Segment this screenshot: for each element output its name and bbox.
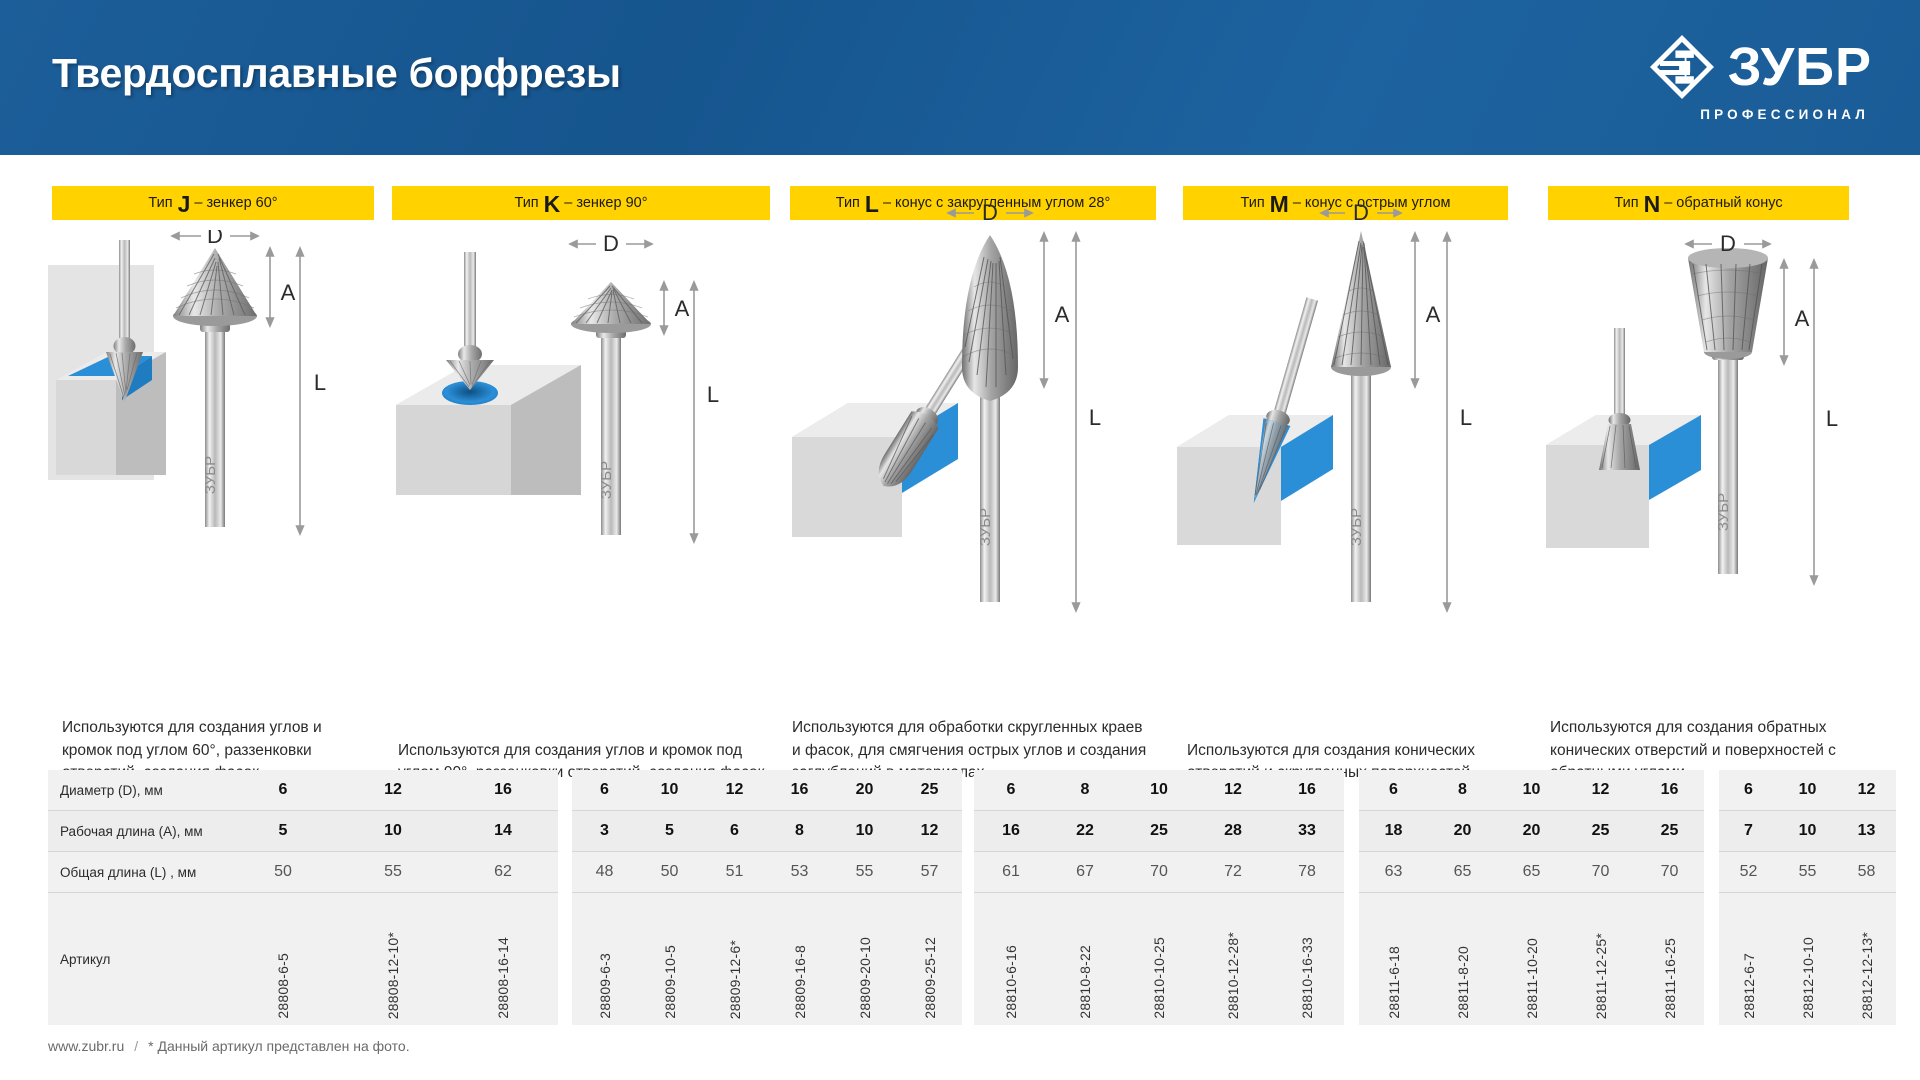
cell-diameter: 12 (1837, 770, 1896, 810)
spec-row-labels: Диаметр (D), мм Рабочая длина (A), мм Об… (48, 770, 228, 1025)
article-code: 28809-16-8 (792, 945, 808, 1019)
footer-note: * Данный артикул представлен на фото. (148, 1038, 409, 1054)
dimension-label-l: L (1826, 406, 1838, 431)
cell-diameter: 10 (637, 770, 702, 810)
spec-table-k: 6 10 12 16 20 25 3 5 6 8 10 12 48 50 51 (572, 770, 962, 1025)
cell-diameter: 16 (448, 770, 558, 810)
type-label-prefix: Тип (148, 195, 172, 211)
table-row-working-length: 7 10 13 (1719, 811, 1896, 851)
article-code: 28808-6-5 (275, 953, 291, 1019)
cell-working-length: 10 (832, 811, 897, 851)
row-label-article: Артикул (48, 893, 228, 1025)
spec-table-n: 6 10 12 7 10 13 52 55 58 28812-6-7 28812… (1719, 770, 1896, 1025)
cell-working-length: 10 (1778, 811, 1837, 851)
type-label-prefix: Тип (514, 195, 538, 211)
table-row-article: 28812-6-7 28812-10-10 28812-12-13* (1719, 893, 1896, 1025)
dimension-a-k (661, 282, 668, 334)
cell-diameter: 10 (1778, 770, 1837, 810)
cell-diameter: 10 (1497, 770, 1566, 810)
cell-total-length: 58 (1837, 852, 1896, 892)
table-row-article: 28808-6-5 28808-12-10* 28808-16-14 (228, 893, 558, 1025)
cell-article: 28808-16-14 (448, 893, 558, 1025)
cell-article: 28812-12-13* (1837, 893, 1896, 1025)
type-label-suffix: – зенкер 90° (564, 195, 647, 211)
cell-working-length: 20 (1497, 811, 1566, 851)
cell-article: 28810-6-16 (974, 893, 1048, 1025)
cell-working-length: 16 (974, 811, 1048, 851)
table-row-article: 28810-6-16 28810-8-22 28810-10-25 28810-… (974, 893, 1344, 1025)
svg-text:ЗУБР: ЗУБР (202, 456, 219, 494)
dimension-label-a: A (281, 280, 296, 305)
article-code: 28809-12-6* (727, 940, 743, 1019)
tool-profile-m: ЗУБР (1331, 231, 1391, 602)
cell-article: 28810-16-33 (1270, 893, 1344, 1025)
cell-working-length: 28 (1196, 811, 1270, 851)
article-code: 28811-10-20 (1524, 938, 1540, 1019)
type-letter-k: K (544, 193, 561, 216)
cell-total-length: 61 (974, 852, 1048, 892)
row-label-working-length: Рабочая длина (A), мм (48, 811, 228, 851)
dimension-label-d: D (1353, 200, 1369, 225)
illustration-type-m: ЗУБР D A (1173, 197, 1518, 667)
dimension-label-d: D (207, 230, 223, 248)
cell-working-length: 18 (1359, 811, 1428, 851)
cell-total-length: 65 (1428, 852, 1497, 892)
table-row-article: 28809-6-3 28809-10-5 28809-12-6* 28809-1… (572, 893, 962, 1025)
dimension-label-a: A (1426, 302, 1441, 327)
cell-working-length: 10 (338, 811, 448, 851)
cell-diameter: 16 (1635, 770, 1704, 810)
footer-website[interactable]: www.zubr.ru (48, 1038, 124, 1054)
article-code: 28808-12-10* (385, 932, 401, 1019)
cell-diameter: 20 (832, 770, 897, 810)
cell-article: 28812-10-10 (1778, 893, 1837, 1025)
article-code: 28809-25-12 (922, 937, 938, 1019)
table-row-diameter: 6 8 10 12 16 (1359, 770, 1704, 810)
article-code: 28810-12-28* (1225, 932, 1241, 1019)
dimension-label-d: D (1720, 231, 1736, 256)
table-row-diameter: 6 12 16 (228, 770, 558, 810)
dimension-label-l: L (1089, 405, 1101, 430)
article-code: 28809-10-5 (662, 945, 678, 1019)
table-row-working-length: 5 10 14 (228, 811, 558, 851)
type-label-n: Тип N – обратный конус (1548, 186, 1849, 220)
brand-logo: ЗУБР ПРОФЕССИОНАЛ (1648, 33, 1872, 122)
dimension-l-j (297, 248, 304, 534)
cell-working-length: 22 (1048, 811, 1122, 851)
article-code: 28808-16-14 (495, 937, 511, 1019)
cell-working-length: 14 (448, 811, 558, 851)
tool-profile-l: ЗУБР (962, 235, 1018, 602)
type-letter-n: N (1644, 193, 1661, 216)
type-letter-j: J (178, 193, 191, 216)
table-row-total-length: 48 50 51 53 55 57 (572, 852, 962, 892)
cell-article: 28811-16-25 (1635, 893, 1704, 1025)
table-row-total-length: 50 55 62 (228, 852, 558, 892)
cell-article: 28811-6-18 (1359, 893, 1428, 1025)
table-row-diameter: 6 8 10 12 16 (974, 770, 1344, 810)
cell-total-length: 70 (1635, 852, 1704, 892)
article-code: 28811-16-25 (1662, 938, 1678, 1019)
cell-article: 28811-10-20 (1497, 893, 1566, 1025)
cell-total-length: 55 (832, 852, 897, 892)
cell-total-length: 72 (1196, 852, 1270, 892)
cell-article: 28809-10-5 (637, 893, 702, 1025)
illustration-type-n: ЗУБР D A (1536, 230, 1861, 670)
cell-working-length: 7 (1719, 811, 1778, 851)
table-row-article: 28811-6-18 28811-8-20 28811-10-20 28811-… (1359, 893, 1704, 1025)
dimension-a-j (267, 248, 274, 326)
article-code: 28810-16-33 (1299, 937, 1315, 1019)
dimension-a-m (1412, 233, 1419, 387)
article-code: 28812-10-10 (1800, 937, 1816, 1019)
cell-working-length: 25 (1635, 811, 1704, 851)
cell-working-length: 13 (1837, 811, 1896, 851)
cell-article: 28810-10-25 (1122, 893, 1196, 1025)
cell-working-length: 5 (637, 811, 702, 851)
cell-total-length: 70 (1122, 852, 1196, 892)
article-code: 28810-10-25 (1151, 937, 1167, 1019)
dimension-label-d: D (982, 200, 998, 225)
dimension-label-a: A (1795, 306, 1810, 331)
cell-diameter: 12 (702, 770, 767, 810)
dimension-l-m (1444, 233, 1451, 611)
cell-diameter: 10 (1122, 770, 1196, 810)
article-code: 28812-12-13* (1859, 932, 1875, 1019)
brand-tagline: ПРОФЕССИОНАЛ (1700, 107, 1869, 122)
cell-diameter: 16 (1270, 770, 1344, 810)
article-code: 28810-8-22 (1077, 945, 1093, 1019)
cell-working-length: 25 (1566, 811, 1635, 851)
cell-working-length: 12 (897, 811, 962, 851)
svg-text:ЗУБР: ЗУБР (598, 461, 615, 499)
page-title: Твердосплавные борфрезы (52, 50, 621, 97)
cell-diameter: 6 (572, 770, 637, 810)
cell-working-length: 5 (228, 811, 338, 851)
spec-table-l: 6 8 10 12 16 16 22 25 28 33 61 67 70 72 … (974, 770, 1344, 1025)
page-header-banner: Твердосплавные борфрезы ЗУБР ПРОФЕССИОНА… (0, 0, 1920, 155)
table-row-diameter: 6 10 12 16 20 25 (572, 770, 962, 810)
article-code: 28810-6-16 (1003, 945, 1019, 1019)
spec-table-m: 6 8 10 12 16 18 20 20 25 25 63 65 65 70 … (1359, 770, 1704, 1025)
type-label-suffix: – обратный конус (1664, 195, 1782, 211)
cell-total-length: 52 (1719, 852, 1778, 892)
article-code: 28811-12-25* (1593, 933, 1609, 1019)
cell-diameter: 6 (974, 770, 1048, 810)
cell-diameter: 6 (228, 770, 338, 810)
type-label-j: Тип J – зенкер 60° (52, 186, 374, 220)
cell-article: 28809-20-10 (832, 893, 897, 1025)
table-row-total-length: 52 55 58 (1719, 852, 1896, 892)
illustration-type-j: ЗУБР D A (48, 230, 378, 625)
footer-separator: / (134, 1038, 138, 1054)
illustration-type-k: ЗУБР D A (386, 230, 776, 625)
cell-article: 28808-6-5 (228, 893, 338, 1025)
cell-article: 28809-12-6* (702, 893, 767, 1025)
table-row-total-length: 63 65 65 70 70 (1359, 852, 1704, 892)
article-code: 28812-6-7 (1741, 953, 1757, 1019)
tool-profile-k: ЗУБР (571, 282, 651, 535)
cell-diameter: 12 (1566, 770, 1635, 810)
dimension-label-d: D (603, 231, 619, 256)
cell-total-length: 53 (767, 852, 832, 892)
cell-total-length: 65 (1497, 852, 1566, 892)
cell-total-length: 78 (1270, 852, 1344, 892)
table-row-working-length: 3 5 6 8 10 12 (572, 811, 962, 851)
cell-article: 28811-12-25* (1566, 893, 1635, 1025)
cell-total-length: 62 (448, 852, 558, 892)
cell-article: 28810-8-22 (1048, 893, 1122, 1025)
type-label-suffix: – зенкер 60° (194, 195, 277, 211)
svg-text:ЗУБР: ЗУБР (1715, 493, 1732, 531)
cell-article: 28810-12-28* (1196, 893, 1270, 1025)
cell-working-length: 8 (767, 811, 832, 851)
illustration-type-l: ЗУБР D A (788, 197, 1158, 667)
cell-article: 28808-12-10* (338, 893, 448, 1025)
article-code: 28811-6-18 (1386, 946, 1402, 1019)
cell-diameter: 6 (1359, 770, 1428, 810)
dimension-l-l (1073, 233, 1080, 611)
zubr-arrow-logo-icon (1648, 33, 1716, 101)
type-label-k: Тип K – зенкер 90° (392, 186, 770, 220)
cell-article: 28809-25-12 (897, 893, 962, 1025)
cell-diameter: 12 (1196, 770, 1270, 810)
dimension-l-n (1811, 260, 1818, 584)
cell-diameter: 8 (1428, 770, 1497, 810)
table-row-working-length: 16 22 25 28 33 (974, 811, 1344, 851)
cell-total-length: 70 (1566, 852, 1635, 892)
cell-working-length: 33 (1270, 811, 1344, 851)
product-datasheet-page: Твердосплавные борфрезы ЗУБР ПРОФЕССИОНА… (0, 0, 1920, 1080)
cell-article: 28809-6-3 (572, 893, 637, 1025)
dimension-label-l: L (314, 370, 326, 395)
article-code: 28811-8-20 (1455, 946, 1471, 1019)
cell-total-length: 48 (572, 852, 637, 892)
spec-tables: Диаметр (D), мм Рабочая длина (A), мм Об… (0, 925, 1920, 1025)
article-code: 28809-6-3 (597, 953, 613, 1019)
svg-text:ЗУБР: ЗУБР (1348, 508, 1365, 546)
svg-text:ЗУБР: ЗУБР (977, 508, 994, 546)
dimension-label-l: L (707, 382, 719, 407)
cell-working-length: 20 (1428, 811, 1497, 851)
cell-total-length: 55 (1778, 852, 1837, 892)
cell-total-length: 55 (338, 852, 448, 892)
table-row-diameter: 6 10 12 (1719, 770, 1896, 810)
cell-working-length: 6 (702, 811, 767, 851)
dimension-label-a: A (675, 296, 690, 321)
cell-total-length: 57 (897, 852, 962, 892)
spec-table-j: 6 12 16 5 10 14 50 55 62 28808-6-5 28808… (228, 770, 558, 1025)
cell-total-length: 51 (702, 852, 767, 892)
cell-article: 28809-16-8 (767, 893, 832, 1025)
dimension-label-a: A (1055, 302, 1070, 327)
dimension-label-l: L (1460, 405, 1472, 430)
cell-working-length: 25 (1122, 811, 1196, 851)
cell-diameter: 12 (338, 770, 448, 810)
cell-total-length: 67 (1048, 852, 1122, 892)
dimension-a-n (1781, 260, 1788, 364)
cell-diameter: 25 (897, 770, 962, 810)
cell-article: 28811-8-20 (1428, 893, 1497, 1025)
cell-article: 28812-6-7 (1719, 893, 1778, 1025)
brand-wordmark: ЗУБР (1728, 40, 1872, 94)
cell-total-length: 50 (228, 852, 338, 892)
article-code: 28809-20-10 (857, 937, 873, 1019)
cell-total-length: 63 (1359, 852, 1428, 892)
logo-row: ЗУБР (1648, 33, 1872, 101)
workpiece-k (396, 365, 581, 495)
workpiece-m (1177, 415, 1333, 545)
cell-total-length: 50 (637, 852, 702, 892)
tool-profile-n: ЗУБР (1688, 248, 1768, 574)
table-row-total-length: 61 67 70 72 78 (974, 852, 1344, 892)
cell-diameter: 6 (1719, 770, 1778, 810)
row-label-diameter: Диаметр (D), мм (48, 770, 228, 810)
table-row-working-length: 18 20 20 25 25 (1359, 811, 1704, 851)
cell-working-length: 3 (572, 811, 637, 851)
page-footer: www.zubr.ru / * Данный артикул представл… (48, 1038, 410, 1054)
cell-diameter: 8 (1048, 770, 1122, 810)
dimension-l-k (691, 282, 698, 542)
cell-diameter: 16 (767, 770, 832, 810)
type-label-prefix: Тип (1614, 195, 1638, 211)
row-label-total-length: Общая длина (L) , мм (48, 852, 228, 892)
dimension-a-l (1041, 233, 1048, 387)
tool-profile-j: ЗУБР (173, 248, 257, 527)
